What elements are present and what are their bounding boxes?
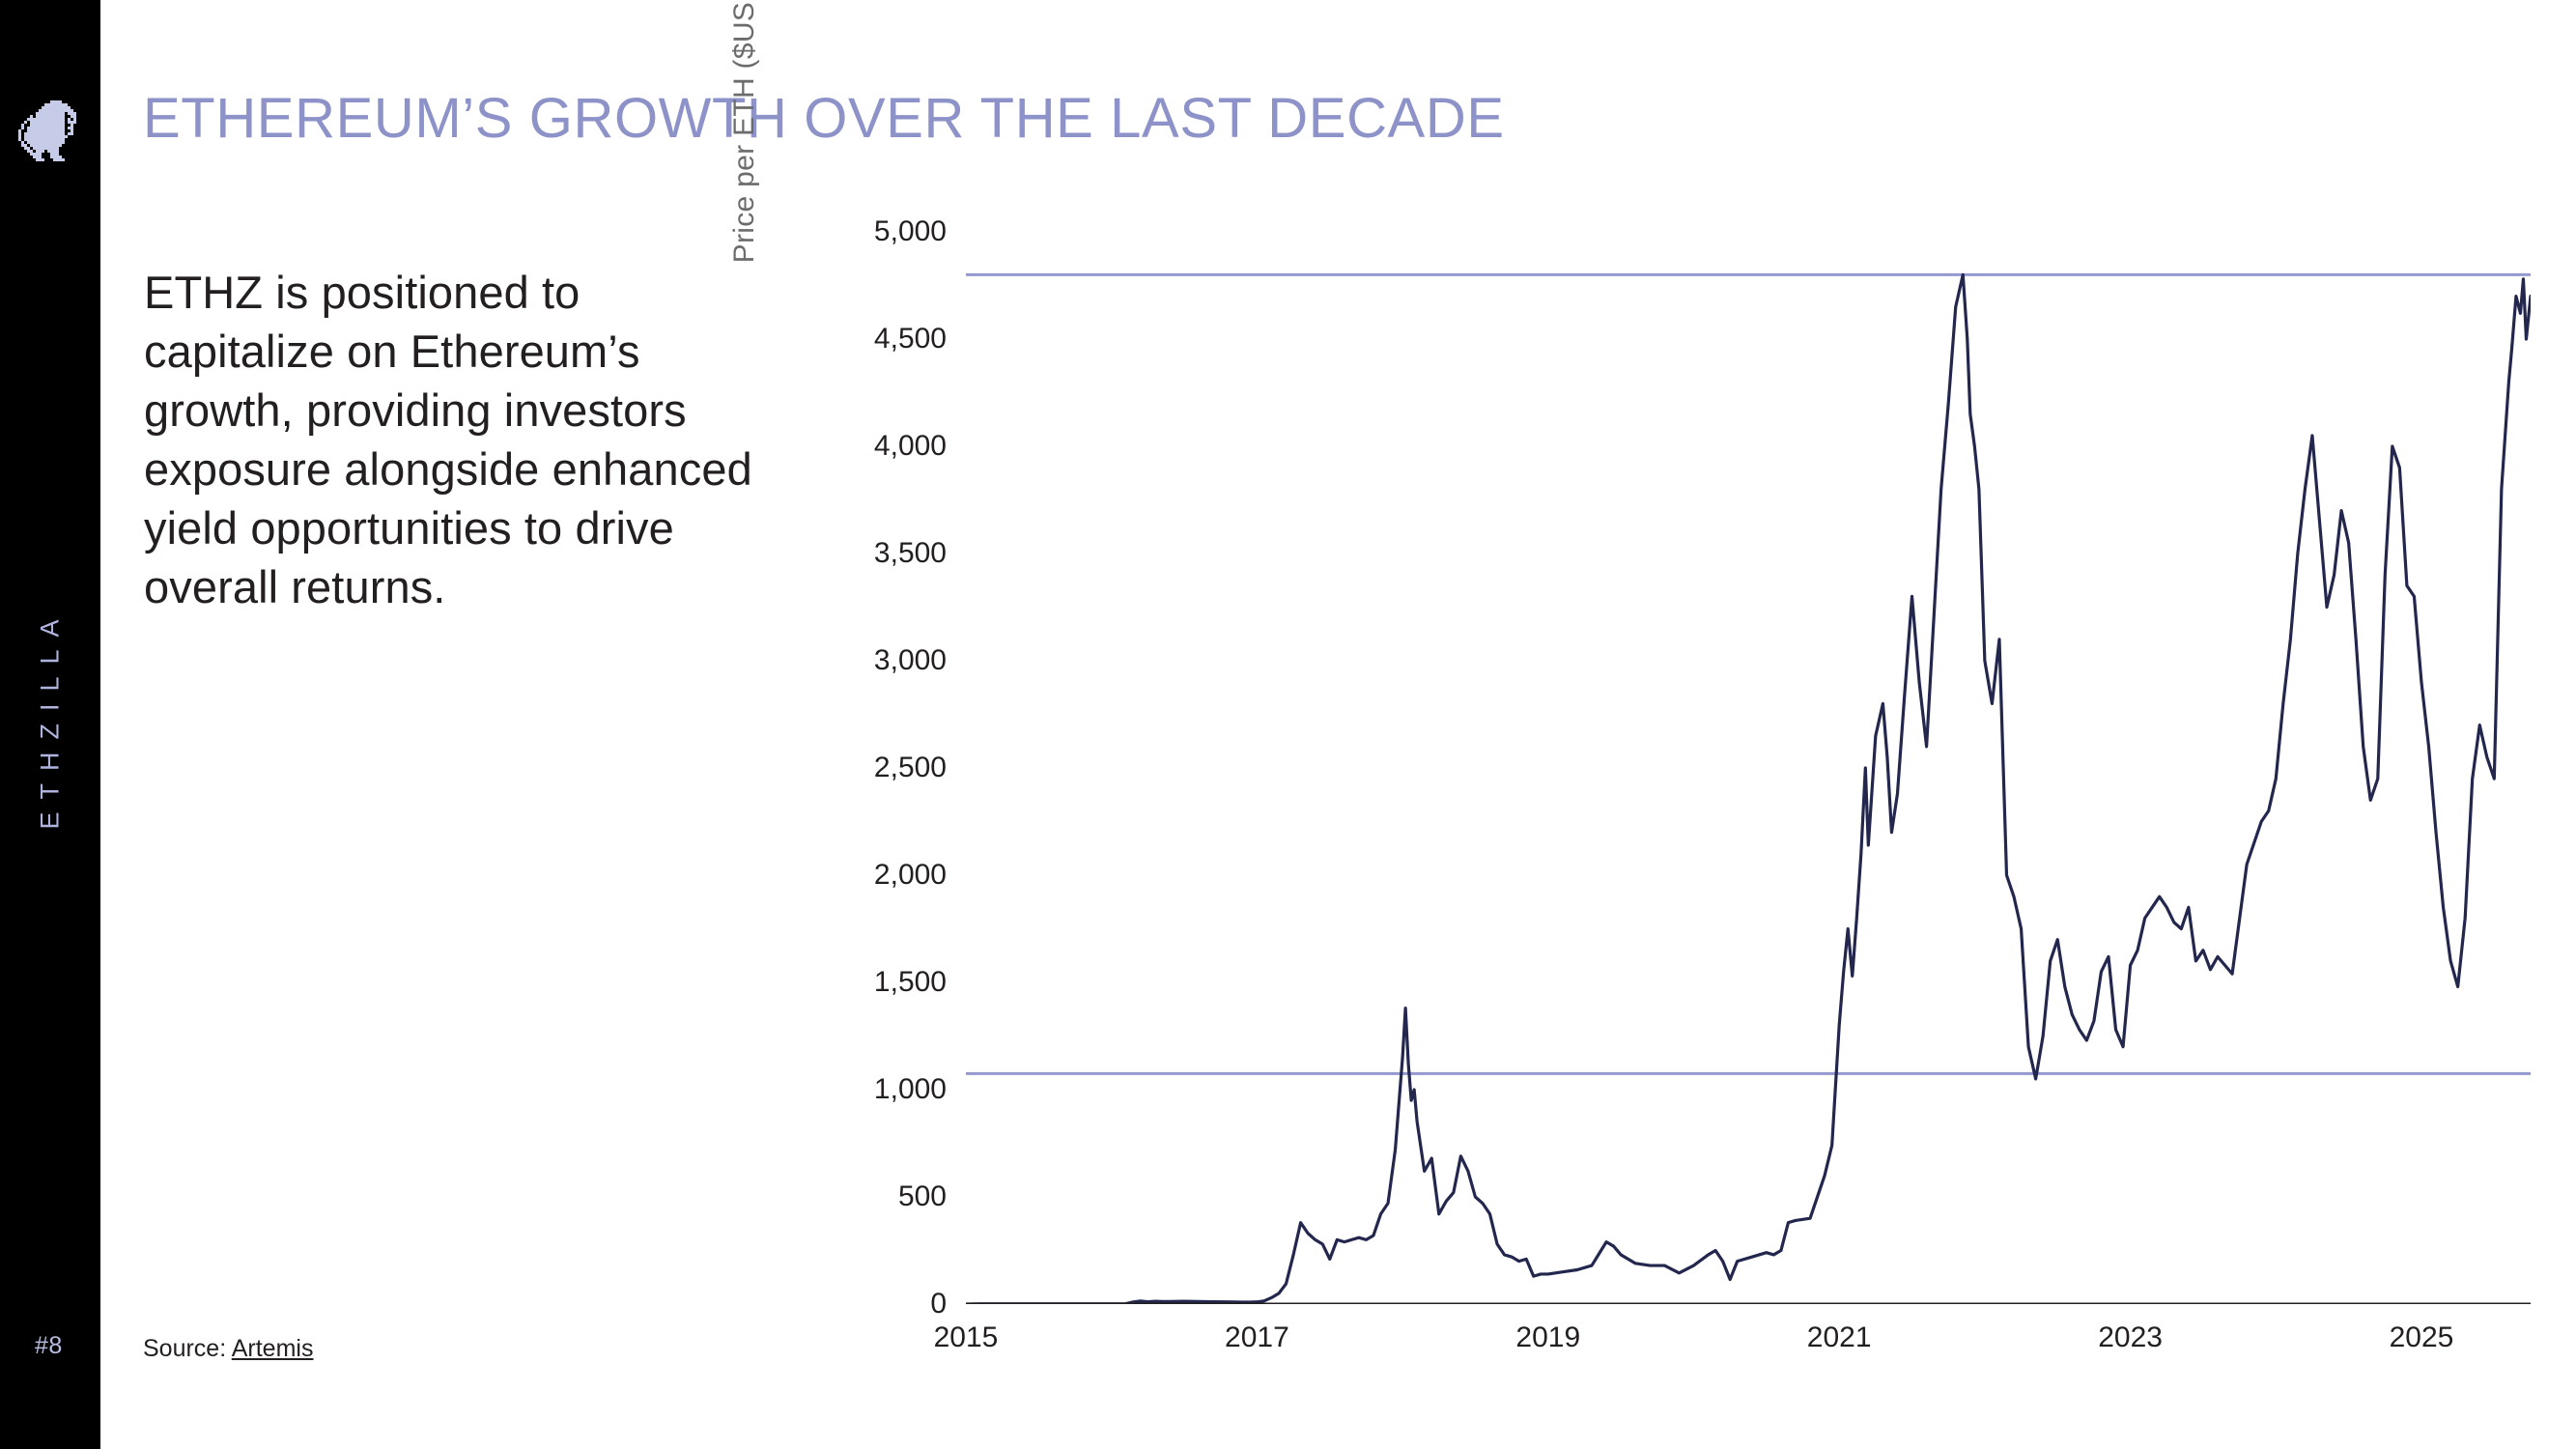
x-axis-tick: 2015	[934, 1321, 999, 1354]
body-paragraph: ETHZ is positioned to capitalize on Ethe…	[144, 263, 762, 616]
sidebar-wordmark: ETHZILLA	[36, 607, 66, 841]
y-axis-tick: 0	[930, 1288, 947, 1321]
x-axis-tick: 2019	[1515, 1321, 1580, 1354]
x-axis-tick: 2017	[1225, 1321, 1289, 1354]
page-title: ETHEREUM’S GROWTH OVER THE LAST DECADE	[143, 89, 1505, 149]
ethzilla-dragon-logo-icon	[13, 94, 88, 171]
eth-price-line	[966, 274, 2531, 1304]
price-line-svg	[966, 232, 2531, 1304]
y-axis-tick: 2,000	[874, 859, 947, 892]
x-axis-tick: 2025	[2390, 1321, 2454, 1354]
y-axis-tick: 3,500	[874, 537, 947, 570]
y-axis-tick: 4,500	[874, 323, 947, 355]
x-axis-tick: 2023	[2098, 1321, 2163, 1354]
source-note: Source: Artemis	[143, 1335, 313, 1363]
x-axis-tick: 2021	[1807, 1321, 1872, 1354]
y-axis-tick: 3,000	[874, 644, 947, 677]
y-axis-tick: 2,500	[874, 752, 947, 784]
y-axis-title: Price per ETH ($USD)	[728, 0, 771, 653]
y-axis-tick: 4,000	[874, 430, 947, 463]
plot-area	[966, 232, 2531, 1304]
left-sidebar: ETHZILLA #8	[0, 0, 100, 1449]
reference-lines	[966, 274, 2531, 1073]
x-axis-tick-labels: 201520172019202120232025	[966, 1304, 2531, 1362]
y-axis-tick: 5,000	[874, 215, 947, 248]
y-axis-tick: 1,500	[874, 966, 947, 999]
y-axis-tick: 1,000	[874, 1073, 947, 1106]
source-link[interactable]: Artemis	[232, 1335, 314, 1362]
y-axis-tick: 500	[898, 1180, 947, 1213]
source-label: Source:	[143, 1335, 232, 1362]
eth-price-chart: Price per ETH ($USD) 05001,0001,5002,000…	[734, 232, 2531, 1372]
y-axis-tick-labels: 05001,0001,5002,0002,5003,0003,5004,0004…	[780, 232, 956, 1304]
page-number: #8	[35, 1332, 63, 1360]
